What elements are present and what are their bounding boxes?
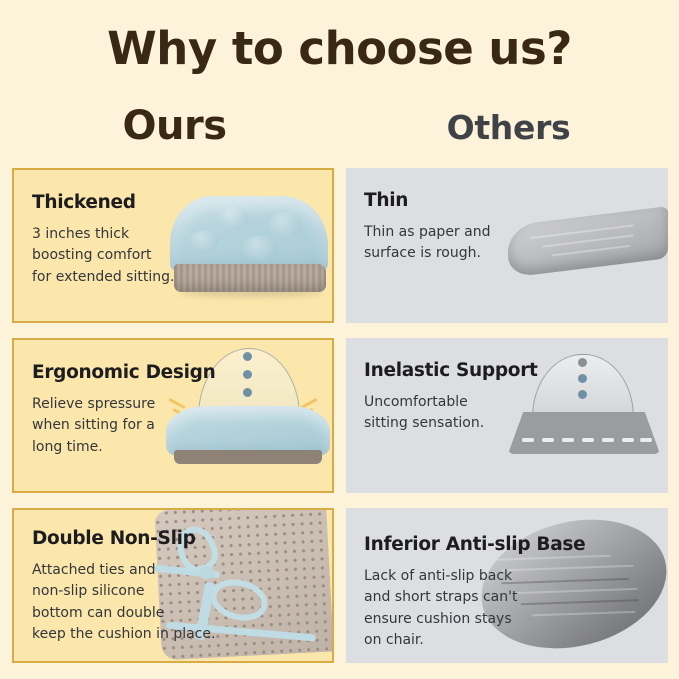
body-line: surface is rough. <box>364 243 544 264</box>
others-card-thin: Thin Thin as paper and surface is rough. <box>346 168 668 323</box>
body-line: sitting sensation. <box>364 413 544 434</box>
card-heading: Ergonomic Design <box>32 362 212 383</box>
body-line: on chair. <box>364 630 549 651</box>
others-card-inferior-anti-slip-base: Inferior Anti-slip Base Lack of anti-sli… <box>346 508 668 663</box>
page-title: Why to choose us? <box>0 22 679 75</box>
body-line: and short straps can't <box>364 587 549 608</box>
card-body: Attached ties and non-slip silicone bott… <box>32 560 247 645</box>
card-text-block: Inferior Anti-slip Base Lack of anti-sli… <box>364 534 549 651</box>
card-text-block: Thin Thin as paper and surface is rough. <box>364 190 544 265</box>
card-body: Relieve spressure when sitting for a lon… <box>32 394 212 458</box>
body-line: non-slip silicone <box>32 581 247 602</box>
body-line: keep the cushion in place. <box>32 624 247 645</box>
body-line: Attached ties and <box>32 560 247 581</box>
card-heading: Double Non-Slip <box>32 528 247 549</box>
ours-card-double-non-slip: Double Non-Slip Attached ties and non-sl… <box>12 508 334 663</box>
card-heading: Thickened <box>32 192 212 213</box>
body-line: 3 inches thick <box>32 224 212 245</box>
body-line: boosting comfort <box>32 245 212 266</box>
body-line: bottom can double <box>32 603 247 624</box>
card-text-block: Inelastic Support Uncomfortable sitting … <box>364 360 544 435</box>
ours-card-thickened: Thickened 3 inches thick boosting comfor… <box>12 168 334 323</box>
card-body: 3 inches thick boosting comfort for exte… <box>32 224 212 288</box>
column-labels: Ours Others <box>0 103 679 155</box>
body-line: Uncomfortable <box>364 392 544 413</box>
card-body: Thin as paper and surface is rough. <box>364 222 544 265</box>
body-line: Lack of anti-slip back <box>364 566 549 587</box>
card-text-block: Thickened 3 inches thick boosting comfor… <box>32 192 212 288</box>
comparison-grid: Thickened 3 inches thick boosting comfor… <box>0 168 679 663</box>
body-line: when sitting for a <box>32 415 212 436</box>
column-label-ours: Ours <box>12 103 337 149</box>
card-body: Uncomfortable sitting sensation. <box>364 392 544 435</box>
body-line: for extended sitting. <box>32 267 212 288</box>
card-heading: Thin <box>364 190 544 211</box>
comparison-row: Thickened 3 inches thick boosting comfor… <box>0 168 679 323</box>
card-heading: Inelastic Support <box>364 360 544 381</box>
others-card-inelastic-support: Inelastic Support Uncomfortable sitting … <box>346 338 668 493</box>
card-heading: Inferior Anti-slip Base <box>364 534 549 555</box>
column-label-others: Others <box>346 108 671 147</box>
body-line: long time. <box>32 437 212 458</box>
comparison-infographic: Why to choose us? Ours Others Thickened … <box>0 0 679 679</box>
card-body: Lack of anti-slip back and short straps … <box>364 566 549 651</box>
ours-card-ergonomic-design: Ergonomic Design Relieve spressure when … <box>12 338 334 493</box>
card-text-block: Double Non-Slip Attached ties and non-sl… <box>32 528 247 645</box>
body-line: ensure cushion stays <box>364 609 549 630</box>
body-line: Relieve spressure <box>32 394 212 415</box>
card-text-block: Ergonomic Design Relieve spressure when … <box>32 362 212 458</box>
body-line: Thin as paper and <box>364 222 544 243</box>
comparison-row: Double Non-Slip Attached ties and non-sl… <box>0 508 679 663</box>
comparison-row: Ergonomic Design Relieve spressure when … <box>0 338 679 493</box>
